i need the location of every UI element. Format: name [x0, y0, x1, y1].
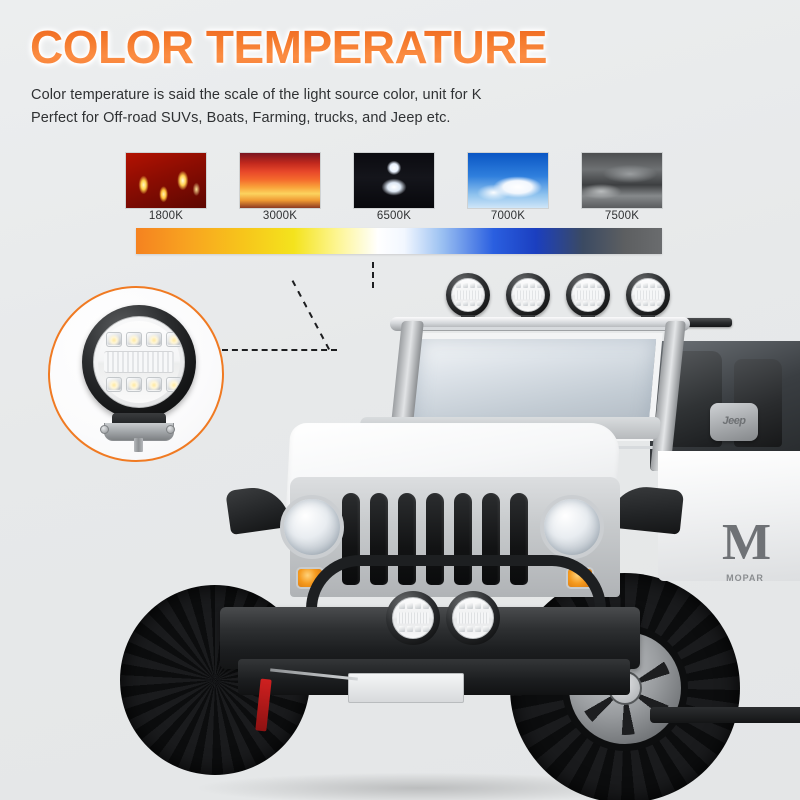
- bumper-led-row-top: [399, 603, 429, 610]
- headlight-right: [540, 495, 604, 559]
- swatch-image-sunset: [240, 153, 320, 208]
- roof-light-reflector: [455, 291, 481, 300]
- swatch-label-3000k: 3000K: [239, 210, 321, 222]
- roof-led-row-bottom: [636, 301, 662, 307]
- bumper-light-reflector: [397, 613, 429, 624]
- swatch-label-7500k: 7500K: [581, 210, 663, 222]
- swatch-label-6500k: 6500K: [353, 210, 435, 222]
- kelvin-gradient-bar: [136, 228, 662, 254]
- roof-light-lens: [631, 278, 665, 312]
- headlight-left: [280, 495, 344, 559]
- infographic-page: COLOR TEMPERATURE Color temperature is s…: [0, 0, 800, 800]
- roof-light-reflector: [575, 291, 601, 300]
- roof-light-4: [626, 273, 670, 323]
- swatch-thumbnail-7000k: [467, 152, 549, 209]
- roof-led-row-top: [576, 283, 602, 289]
- bumper-light-lens: [392, 597, 434, 639]
- swatch-image-overcast: [582, 153, 662, 208]
- jeep-headrest-badge: Jeep: [710, 403, 758, 441]
- temperature-swatch-row: 1800K 3000K 6500K 7000K 7500K: [125, 152, 663, 212]
- swatch-label-7000k: 7000K: [467, 210, 549, 222]
- rocker-rail: [650, 707, 800, 723]
- roof-light-housing: [626, 273, 670, 317]
- ground-shadow: [0, 760, 800, 800]
- swatch-thumbnail-7500k: [581, 152, 663, 209]
- roof-light-reflector: [515, 291, 541, 300]
- swatch-image-blue-sky: [468, 153, 548, 208]
- roof-light-lens: [511, 278, 545, 312]
- roof-light-lens: [451, 278, 485, 312]
- swatch-label-1800k: 1800K: [125, 210, 207, 222]
- roof-light-housing: [446, 273, 490, 317]
- roof-led-row-top: [516, 283, 542, 289]
- swatch-thumbnail-3000k: [239, 152, 321, 209]
- roof-light-1: [446, 273, 490, 323]
- page-subtitle: Color temperature is said the scale of t…: [31, 84, 482, 131]
- roof-led-row-bottom: [456, 301, 482, 307]
- bumper-light-1: [386, 591, 440, 645]
- bumper-led-row-bottom: [459, 626, 489, 633]
- roof-light-housing: [506, 273, 550, 317]
- roof-led-row-bottom: [516, 301, 542, 307]
- roof-light-3: [566, 273, 610, 323]
- mopar-logo-icon: M: [722, 517, 766, 569]
- bumper-light-lens: [452, 597, 494, 639]
- bumper-led-row-top: [459, 603, 489, 610]
- roof-light-housing: [566, 273, 610, 317]
- bumper-light-reflector: [457, 613, 489, 624]
- jeep-wrangler-photo: Jeep M MOPAR: [110, 255, 800, 800]
- led-bolt-icon: [100, 425, 109, 434]
- roof-light-lens: [571, 278, 605, 312]
- bumper-led-row-bottom: [399, 626, 429, 633]
- roof-led-row-bottom: [576, 301, 602, 307]
- roof-light-reflector: [635, 291, 661, 300]
- roof-led-row-top: [636, 283, 662, 289]
- bumper-light-2: [446, 591, 500, 645]
- mopar-wordmark: MOPAR: [710, 573, 780, 583]
- swatch-image-led-lamp: [354, 153, 434, 208]
- swatch-thumbnail-6500k: [353, 152, 435, 209]
- headrest-label: Jeep: [710, 415, 758, 427]
- roof-led-row-top: [456, 283, 482, 289]
- bumper-light-housing: [386, 591, 440, 645]
- page-title: COLOR TEMPERATURE: [30, 24, 547, 70]
- license-plate: [348, 673, 464, 703]
- swatch-thumbnail-1800k: [125, 152, 207, 209]
- swatch-image-candles: [126, 153, 206, 208]
- roof-light-2: [506, 273, 550, 323]
- bumper-light-housing: [446, 591, 500, 645]
